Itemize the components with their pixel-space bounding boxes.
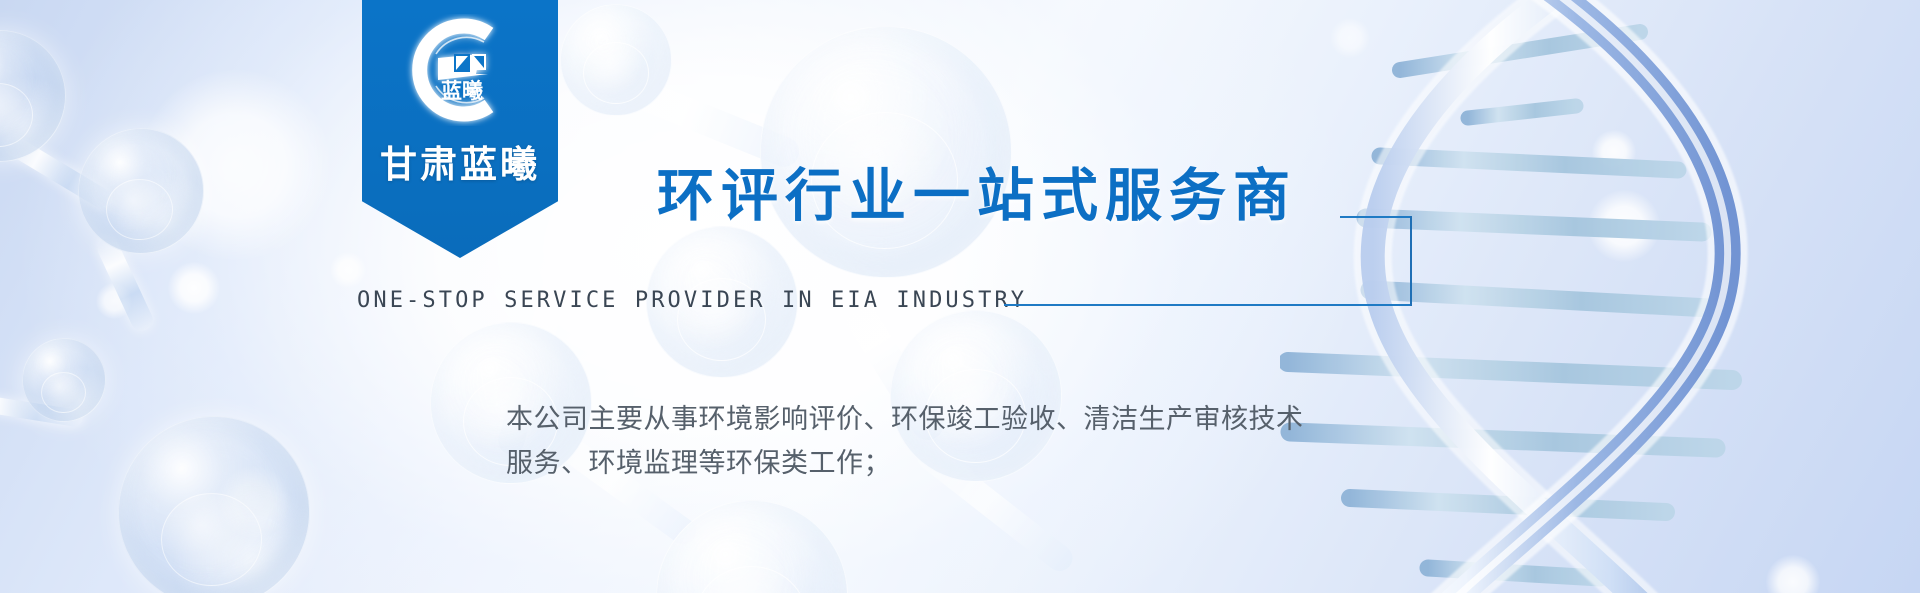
bokeh-dot (218, 466, 290, 538)
description-line: 本公司主要从事环境影响评价、环保竣工验收、清洁生产审核技术 (506, 398, 1406, 442)
logo-mark-text: 蓝曦 (441, 79, 483, 103)
bracket-top-line (1340, 216, 1412, 218)
molecule-sphere (118, 416, 310, 593)
molecule-bond (588, 61, 803, 171)
bokeh-dot (1592, 130, 1636, 174)
molecule-bond (3, 133, 116, 212)
bokeh-dot (1766, 555, 1820, 593)
molecule-sphere (0, 30, 66, 162)
bokeh-dot (96, 283, 132, 319)
dna-helix-graphic (1280, 0, 1840, 593)
promo-banner: 蓝曦 甘肃蓝曦 环评行业一站式服务商 ONE-STOP SERVICE PROV… (0, 0, 1920, 593)
bokeh-dot (330, 252, 366, 288)
headline-subtitle-en: ONE-STOP SERVICE PROVIDER IN EIA INDUSTR… (357, 288, 1027, 313)
molecule-bond (94, 234, 156, 334)
molecule-sphere (760, 26, 1012, 278)
molecule-sphere (560, 4, 672, 116)
company-name: 甘肃蓝曦 (362, 134, 558, 188)
description-line: 服务、环境监理等环保类工作； (506, 442, 1406, 486)
bokeh-dot (168, 262, 220, 314)
headline-title: 环评行业一站式服务商 (657, 168, 1297, 225)
subtitle-rule-line (1004, 304, 1412, 306)
description-block: 本公司主要从事环境影响评价、环保竣工验收、清洁生产审核技术 服务、环境监理等环保… (506, 398, 1406, 485)
bokeh-dot (1588, 190, 1660, 262)
molecule-bond (0, 392, 84, 428)
lanxi-circle-emblem-logo: 蓝曦 (376, 14, 544, 126)
molecule-sphere (78, 128, 204, 254)
molecule-sphere (656, 500, 848, 593)
bracket-vertical-line (1410, 216, 1412, 306)
bokeh-dot (1330, 18, 1370, 58)
molecule-sphere (22, 338, 106, 422)
bokeh-dot (140, 70, 330, 260)
